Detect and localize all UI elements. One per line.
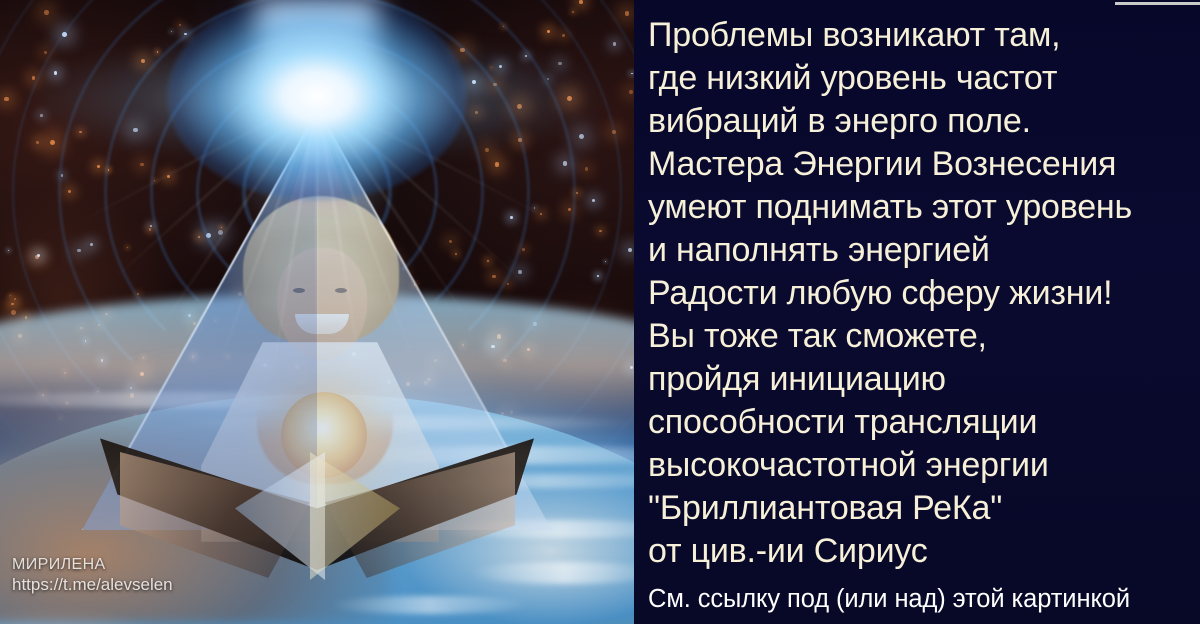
message-line: способности трансляции [648,401,1200,444]
message-line: где низкий уровень частот [648,57,1200,100]
watermark-author: МИРИЛЕНА [12,556,173,575]
message-body: Проблемы возникают там,где низкий уровен… [648,14,1200,573]
message-line: Радости любую сферу жизни! [648,272,1200,315]
message-line: умеют поднимать этот уровень [648,186,1200,229]
top-right-hairline [1115,2,1200,5]
message-line: высокочастотной энергии [648,444,1200,487]
message-line: Вы тоже так сможете, [648,315,1200,358]
watermark-url: https://t.me/alevselen [12,575,173,595]
apex-flare-core [167,0,467,201]
message-line: Проблемы возникают там, [648,14,1200,57]
message-line: вибраций в энерго поле. [648,100,1200,143]
message-line: и наполнять энергией [648,229,1200,272]
message-line: "Бриллиантовая РеКа" [648,487,1200,530]
poster-root: МИРИЛЕНА https://t.me/alevselen Проблемы… [0,0,1200,624]
message-line: Мастера Энергии Вознесения [648,143,1200,186]
message-line: пройдя инициацию [648,358,1200,401]
cosmic-artwork-image: МИРИЛЕНА https://t.me/alevselen [0,0,634,624]
message-footnote: См. ссылку под (или над) этой картинкой [648,573,1200,619]
message-text-panel: Проблемы возникают там,где низкий уровен… [634,0,1200,624]
watermark: МИРИЛЕНА https://t.me/alevselen [12,556,173,595]
message-line: от цив.-ии Сириус [648,530,1200,573]
